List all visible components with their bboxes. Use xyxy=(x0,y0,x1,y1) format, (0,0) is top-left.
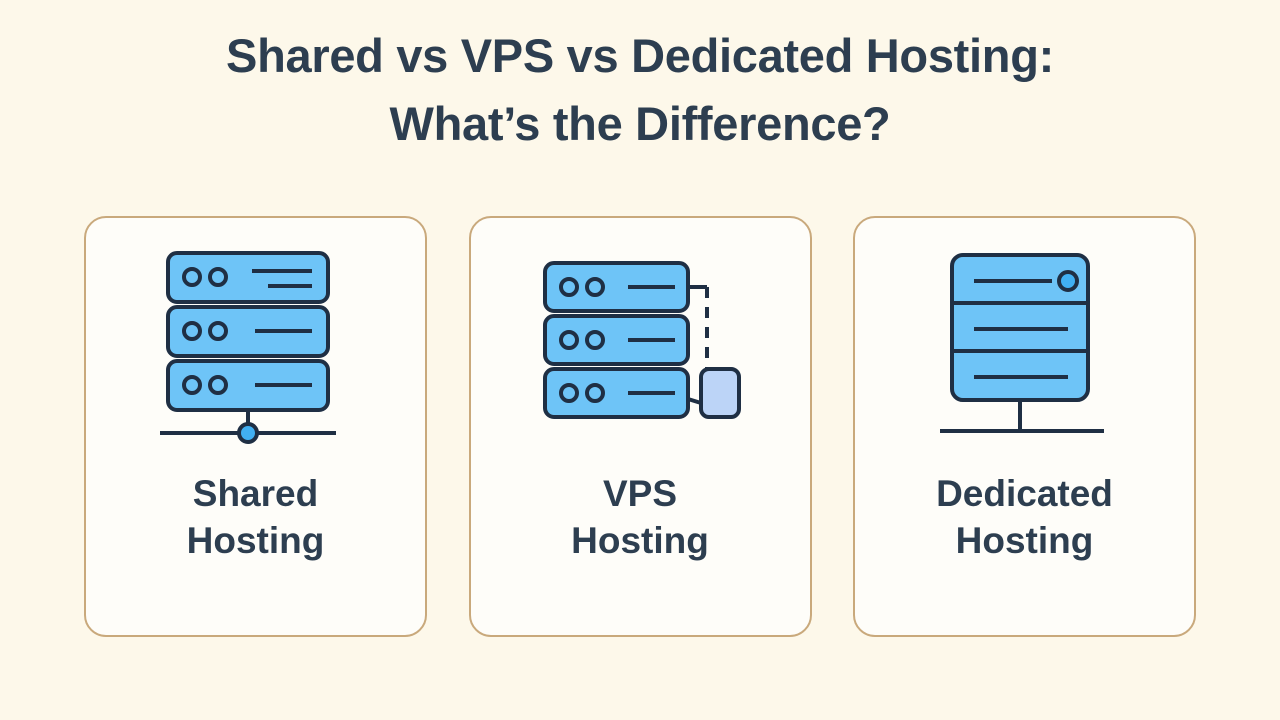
card-dedicated-hosting-label-line-2: Hosting xyxy=(936,517,1113,564)
stacked-servers-shared-icon xyxy=(156,241,356,451)
card-shared-hosting-label: Shared Hosting xyxy=(187,470,325,565)
infographic-page: Shared vs VPS vs Dedicated Hosting: What… xyxy=(0,0,1280,720)
hosting-type-card-row: Shared Hosting xyxy=(84,216,1196,637)
page-title: Shared vs VPS vs Dedicated Hosting: What… xyxy=(0,22,1280,157)
card-dedicated-hosting[interactable]: Dedicated Hosting xyxy=(853,216,1196,637)
card-shared-hosting-label-line-2: Hosting xyxy=(187,517,325,564)
card-vps-hosting[interactable]: VPS Hosting xyxy=(469,216,812,637)
page-title-line-2: What’s the Difference? xyxy=(0,90,1280,158)
card-vps-hosting-label-line-1: VPS xyxy=(571,470,709,517)
virtual-private-server-box-icon xyxy=(701,369,739,417)
card-dedicated-hosting-label: Dedicated Hosting xyxy=(936,470,1113,565)
card-shared-hosting[interactable]: Shared Hosting xyxy=(84,216,427,637)
card-shared-hosting-label-line-1: Shared xyxy=(187,470,325,517)
dedicated-hosting-icon-wrap xyxy=(855,218,1194,468)
page-title-line-1: Shared vs VPS vs Dedicated Hosting: xyxy=(0,22,1280,90)
single-server-dedicated-icon xyxy=(930,241,1120,451)
shared-hosting-icon-wrap xyxy=(86,218,425,468)
status-light-icon xyxy=(1059,272,1077,290)
stacked-servers-vps-icon xyxy=(535,241,745,451)
card-vps-hosting-label: VPS Hosting xyxy=(571,470,709,565)
card-vps-hosting-label-line-2: Hosting xyxy=(571,517,709,564)
vps-hosting-icon-wrap xyxy=(471,218,810,468)
card-dedicated-hosting-label-line-1: Dedicated xyxy=(936,470,1113,517)
network-node-icon xyxy=(239,424,257,442)
